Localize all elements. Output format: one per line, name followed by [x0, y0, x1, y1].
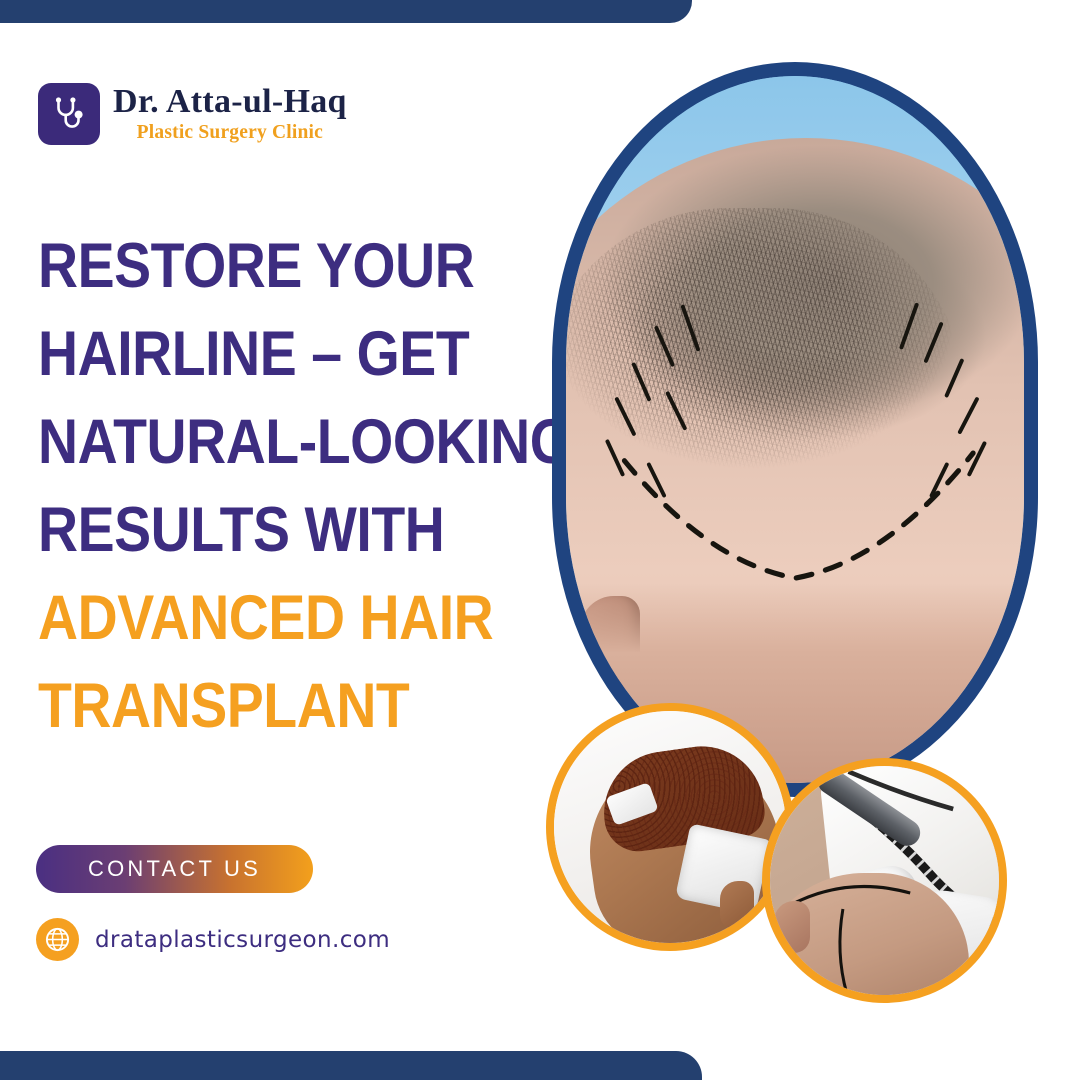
inset-image-post-transplant [546, 703, 794, 951]
website-row[interactable]: drataplasticsurgeon.com [36, 918, 390, 961]
brand-name: Dr. Atta-ul-Haq [113, 85, 347, 119]
brand-logo[interactable]: Dr. Atta-ul-Haq Plastic Surgery Clinic [38, 83, 347, 145]
headline-block: RESTORE YOUR HAIRLINE – GET NATURAL-LOOK… [38, 222, 508, 750]
headline-line-3: NATURAL-LOOKING [38, 398, 452, 486]
stethoscope-icon [38, 83, 100, 145]
brand-tagline: Plastic Surgery Clinic [113, 123, 347, 143]
headline-line-6: TRANSPLANT [38, 662, 452, 750]
headline-line-1: RESTORE YOUR [38, 222, 452, 310]
inset-b-content [770, 766, 999, 995]
contact-us-button[interactable]: CONTACT US [36, 845, 313, 893]
brand-logo-text: Dr. Atta-ul-Haq Plastic Surgery Clinic [113, 85, 347, 143]
hero-image-inner [566, 76, 1024, 783]
website-url[interactable]: drataplasticsurgeon.com [95, 927, 390, 953]
globe-icon [36, 918, 79, 961]
inset-image-procedure [762, 758, 1007, 1003]
headline-line-5: ADVANCED HAIR [38, 574, 452, 662]
inset-b-patient-ear [774, 901, 810, 953]
headline-line-2: HAIRLINE – GET [38, 310, 452, 398]
inset-a-content [554, 711, 786, 943]
inset-a-ear [720, 881, 754, 929]
left-content-column: Dr. Atta-ul-Haq Plastic Surgery Clinic R… [0, 0, 545, 1080]
headline-line-4: RESULTS WITH [38, 486, 452, 574]
hero-image-hairline-marking [552, 62, 1038, 797]
